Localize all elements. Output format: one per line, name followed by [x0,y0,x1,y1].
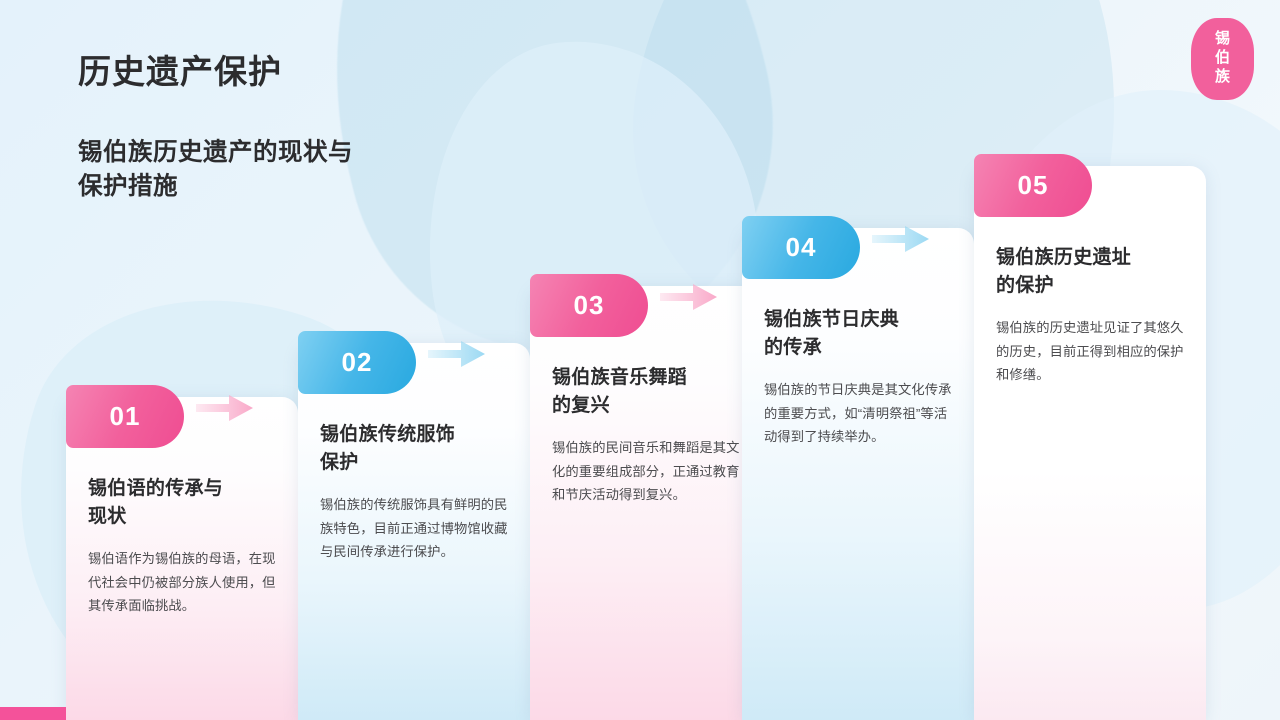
page-title: 历史遗产保护 [78,52,353,92]
step-connector-arrow-icon [428,339,486,369]
brand-seal-logo: 锡 伯 族 [1191,18,1254,100]
step-card[interactable]: 锡伯族音乐舞蹈的复兴锡伯族的民间音乐和舞蹈是其文化的重要组成部分，正通过教育和节… [530,286,762,720]
step-number-badge[interactable]: 03 [530,274,648,337]
step-description: 锡伯族的历史遗址见证了其悠久的历史，目前正得到相应的保护和修缮。 [996,316,1186,387]
step-number-badge[interactable]: 02 [298,331,416,394]
seal-char-3: 族 [1215,69,1230,87]
header: 历史遗产保护 锡伯族历史遗产的现状与保护措施 [78,52,353,205]
step-heading: 锡伯族历史遗址的保护 [996,244,1188,299]
step-card[interactable]: 锡伯族历史遗址的保护锡伯族的历史遗址见证了其悠久的历史，目前正得到相应的保护和修… [974,166,1206,720]
step-number-badge[interactable]: 01 [66,385,184,448]
step-number-label: 02 [342,347,373,378]
step-card[interactable]: 锡伯族节日庆典的传承锡伯族的节日庆典是其文化传承的重要方式，如“清明祭祖”等活动… [742,228,974,720]
step-heading: 锡伯语的传承与现状 [88,475,280,530]
step-heading: 锡伯族音乐舞蹈的复兴 [552,364,744,419]
seal-char-1: 锡 [1215,31,1230,49]
step-description: 锡伯族的传统服饰具有鲜明的民族特色，目前正通过博物馆收藏与民间传承进行保护。 [320,493,510,564]
step-number-label: 04 [786,232,817,263]
page-subtitle: 锡伯族历史遗产的现状与保护措施 [78,136,353,206]
step-connector-arrow-icon [196,393,254,423]
step-number-badge[interactable]: 05 [974,154,1092,217]
step-number-label: 05 [1018,170,1049,201]
step-number-label: 03 [574,290,605,321]
step-card[interactable]: 锡伯族传统服饰保护锡伯族的传统服饰具有鲜明的民族特色，目前正通过博物馆收藏与民间… [298,343,530,720]
step-description: 锡伯族的节日庆典是其文化传承的重要方式，如“清明祭祖”等活动得到了持续举办。 [764,378,954,449]
step-description: 锡伯语作为锡伯族的母语，在现代社会中仍被部分族人使用，但其传承面临挑战。 [88,547,278,618]
step-number-badge[interactable]: 04 [742,216,860,279]
bottom-accent-bar [0,707,66,720]
step-heading: 锡伯族节日庆典的传承 [764,306,956,361]
step-connector-arrow-icon [872,224,930,254]
slide-canvas: 历史遗产保护 锡伯族历史遗产的现状与保护措施 锡 伯 族 锡伯语的传承与现状锡伯… [0,0,1280,720]
step-heading: 锡伯族传统服饰保护 [320,421,512,476]
step-number-label: 01 [110,401,141,432]
seal-char-2: 伯 [1215,50,1230,68]
step-connector-arrow-icon [660,282,718,312]
step-description: 锡伯族的民间音乐和舞蹈是其文化的重要组成部分，正通过教育和节庆活动得到复兴。 [552,436,742,507]
